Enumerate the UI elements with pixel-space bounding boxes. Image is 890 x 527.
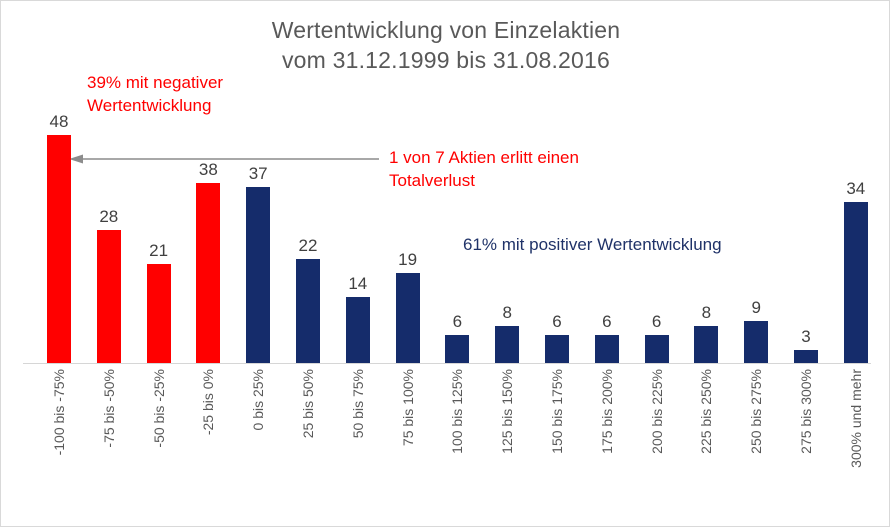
bar-slot: 34 xyxy=(831,111,881,364)
bar-value-label: 3 xyxy=(781,327,831,347)
chart-title: Wertentwicklung von Einzelaktien vom 31.… xyxy=(1,15,890,75)
category-label: 250 bis 275% xyxy=(748,369,764,454)
category-tick: 150 bis 175% xyxy=(532,369,582,517)
bar-value-label: 9 xyxy=(731,298,781,318)
bar[interactable] xyxy=(694,326,718,364)
category-tick: 300% und mehr xyxy=(831,369,881,517)
bar-value-label: 38 xyxy=(183,160,233,180)
bar-value-label: 6 xyxy=(432,312,482,332)
bar-value-label: 28 xyxy=(84,207,134,227)
category-tick: 25 bis 50% xyxy=(283,369,333,517)
bar-value-label: 22 xyxy=(283,236,333,256)
bar-value-label: 21 xyxy=(134,241,184,261)
bar-slot: 6 xyxy=(632,111,682,364)
bar[interactable] xyxy=(844,202,868,364)
bar-slot: 6 xyxy=(432,111,482,364)
category-label: 0 bis 25% xyxy=(250,369,266,430)
category-tick: 50 bis 75% xyxy=(333,369,383,517)
category-tick: -75 bis -50% xyxy=(84,369,134,517)
category-label: 225 bis 250% xyxy=(698,369,714,454)
bar-value-label: 8 xyxy=(681,303,731,323)
bar-slot: 48 xyxy=(34,111,84,364)
bar[interactable] xyxy=(495,326,519,364)
bar[interactable] xyxy=(346,297,370,364)
bar[interactable] xyxy=(97,230,121,364)
bar-slot: 19 xyxy=(383,111,433,364)
bar-slot: 9 xyxy=(731,111,781,364)
bar[interactable] xyxy=(246,187,270,364)
bar-slot: 8 xyxy=(482,111,532,364)
bar-value-label: 14 xyxy=(333,274,383,294)
bar-value-label: 6 xyxy=(632,312,682,332)
category-label: -25 bis 0% xyxy=(200,369,216,435)
category-label: 50 bis 75% xyxy=(350,369,366,438)
bar-value-label: 8 xyxy=(482,303,532,323)
category-label: 125 bis 150% xyxy=(499,369,515,454)
category-axis-line xyxy=(23,363,871,364)
category-tick: 275 bis 300% xyxy=(781,369,831,517)
category-label: -50 bis -25% xyxy=(151,369,167,448)
bar-value-label: 6 xyxy=(532,312,582,332)
bar-slot: 21 xyxy=(134,111,184,364)
bar[interactable] xyxy=(196,183,220,364)
bar[interactable] xyxy=(296,259,320,364)
bar-slot: 28 xyxy=(84,111,134,364)
bar-slot: 8 xyxy=(681,111,731,364)
category-label: 25 bis 50% xyxy=(300,369,316,438)
bar[interactable] xyxy=(147,264,171,364)
category-label: -75 bis -50% xyxy=(101,369,117,448)
bar-slot: 22 xyxy=(283,111,333,364)
bar[interactable] xyxy=(595,335,619,364)
bar-value-label: 19 xyxy=(383,250,433,270)
category-tick: 200 bis 225% xyxy=(632,369,682,517)
category-label: 75 bis 100% xyxy=(400,369,416,446)
bar[interactable] xyxy=(47,135,71,364)
bar-slot: 37 xyxy=(233,111,283,364)
category-tick: 225 bis 250% xyxy=(681,369,731,517)
category-label: 300% und mehr xyxy=(848,369,864,468)
category-tick: 75 bis 100% xyxy=(383,369,433,517)
bar-value-label: 34 xyxy=(831,179,881,199)
bar-slot: 6 xyxy=(582,111,632,364)
bar-value-label: 6 xyxy=(582,312,632,332)
plot-area: 48282138372214196866689334 xyxy=(23,111,871,364)
bar-slot: 14 xyxy=(333,111,383,364)
category-label: -100 bis -75% xyxy=(51,369,67,455)
bar-value-label: 48 xyxy=(34,112,84,132)
category-label: 150 bis 175% xyxy=(549,369,565,454)
category-label: 275 bis 300% xyxy=(798,369,814,454)
category-label: 175 bis 200% xyxy=(599,369,615,454)
category-tick: 0 bis 25% xyxy=(233,369,283,517)
category-tick: 100 bis 125% xyxy=(432,369,482,517)
bar[interactable] xyxy=(545,335,569,364)
category-tick: 250 bis 275% xyxy=(731,369,781,517)
category-axis-labels: -100 bis -75%-75 bis -50%-50 bis -25%-25… xyxy=(23,369,871,519)
category-label: 100 bis 125% xyxy=(449,369,465,454)
category-tick: 125 bis 150% xyxy=(482,369,532,517)
bar[interactable] xyxy=(445,335,469,364)
bar[interactable] xyxy=(396,273,420,364)
bar-slot: 3 xyxy=(781,111,831,364)
category-tick: 175 bis 200% xyxy=(582,369,632,517)
bar[interactable] xyxy=(794,350,818,364)
category-tick: -100 bis -75% xyxy=(34,369,84,517)
category-tick: -50 bis -25% xyxy=(134,369,184,517)
chart-container: Wertentwicklung von Einzelaktien vom 31.… xyxy=(0,0,890,527)
bar[interactable] xyxy=(645,335,669,364)
category-label: 200 bis 225% xyxy=(649,369,665,454)
bar-value-label: 37 xyxy=(233,164,283,184)
bar-slot: 38 xyxy=(183,111,233,364)
category-tick: -25 bis 0% xyxy=(183,369,233,517)
bar-slot: 6 xyxy=(532,111,582,364)
bar[interactable] xyxy=(744,321,768,364)
